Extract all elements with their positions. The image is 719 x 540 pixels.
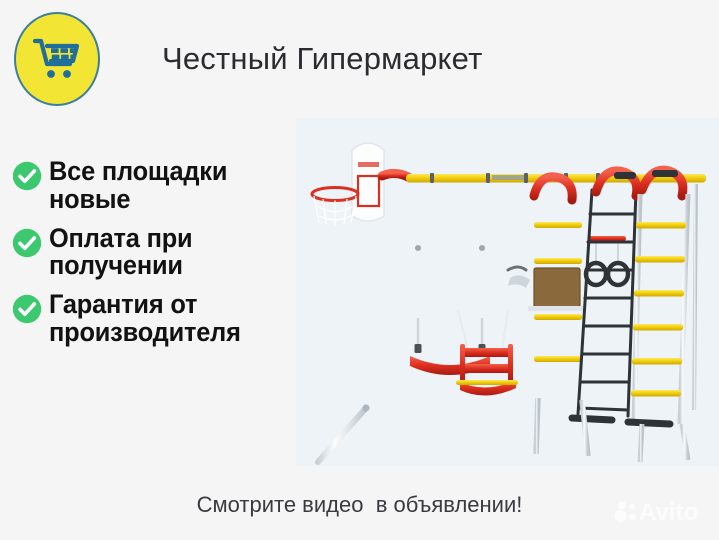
check-circle-icon <box>12 294 42 324</box>
svg-text:Avito: Avito <box>639 499 698 526</box>
product-photo <box>296 118 719 466</box>
feature-list: Все площадки новые Оплата при получении … <box>12 158 308 358</box>
check-circle-icon <box>12 228 42 258</box>
page-title: Честный Гипермаркет <box>162 41 482 77</box>
store-logo <box>14 12 100 106</box>
avito-dots-icon <box>613 499 639 525</box>
list-item: Все площадки новые <box>12 158 308 214</box>
footer-note: Смотрите видео в объявлении! <box>0 492 719 518</box>
list-item-label: Оплата при получении <box>49 225 292 281</box>
ad-banner: Честный Гипермаркет Все площадки новые О… <box>0 0 719 540</box>
list-item: Оплата при получении <box>12 225 308 281</box>
avito-watermark: Avito <box>613 498 705 526</box>
avito-wordmark: Avito <box>639 498 705 526</box>
playground-swing-set-illustration <box>296 118 719 466</box>
list-item-label: Гарантия от производителя <box>49 291 292 347</box>
banner-header: Честный Гипермаркет <box>0 0 719 118</box>
list-item-label: Все площадки новые <box>49 158 292 214</box>
list-item: Гарантия от производителя <box>12 291 308 347</box>
check-circle-icon <box>12 161 42 191</box>
shopping-cart-icon <box>32 36 82 82</box>
